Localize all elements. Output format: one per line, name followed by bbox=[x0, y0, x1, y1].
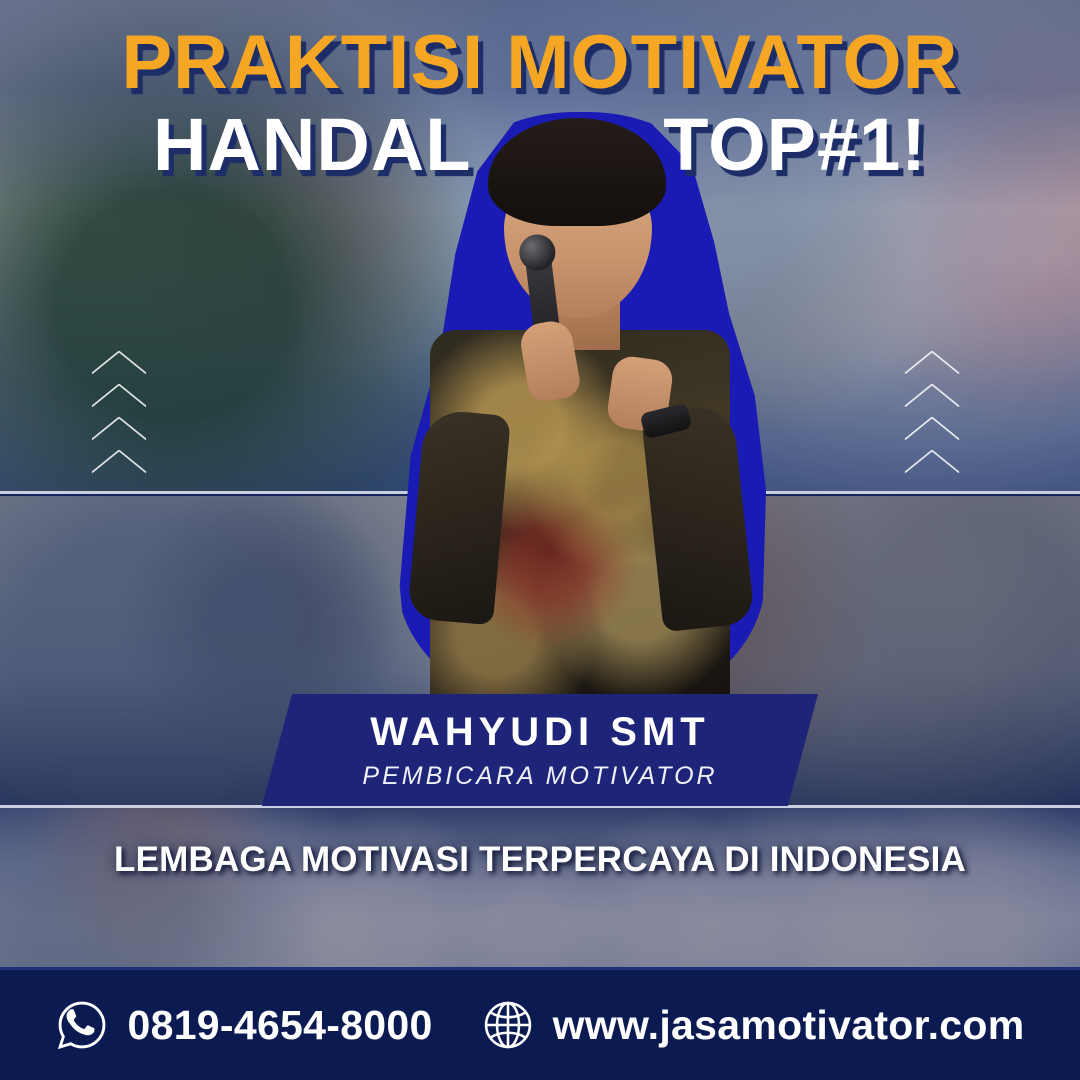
chevron-group-right bbox=[908, 352, 964, 481]
headline-block: PRAKTISI MOTIVATOR HANDAL TOP#1! bbox=[0, 0, 1080, 182]
website-url: www.jasamotivator.com bbox=[553, 1005, 1025, 1046]
chevron-up-icon bbox=[95, 418, 151, 448]
left-arm bbox=[407, 409, 511, 626]
speaker-role: PEMBICARA MOTIVATOR bbox=[362, 764, 717, 789]
speaker-name: WAHYUDI SMT bbox=[370, 712, 709, 752]
whatsapp-icon bbox=[55, 998, 109, 1052]
tagline: LEMBAGA MOTIVASI TERPERCAYA DI INDONESIA bbox=[0, 840, 1080, 880]
chevron-group-left bbox=[95, 352, 151, 481]
headline-line-2-left: HANDAL bbox=[153, 103, 470, 186]
name-ribbon: WAHYUDI SMT PEMBICARA MOTIVATOR bbox=[262, 694, 818, 806]
chevron-up-icon bbox=[908, 451, 964, 481]
chevron-up-icon bbox=[908, 385, 964, 415]
chevron-up-icon bbox=[95, 451, 151, 481]
group-photo bbox=[0, 808, 1080, 970]
phone-number: 0819-4654-8000 bbox=[127, 1005, 432, 1046]
headline-line-2: HANDAL TOP#1! bbox=[0, 108, 1080, 182]
website-contact[interactable]: www.jasamotivator.com bbox=[481, 998, 1025, 1052]
chevron-up-icon bbox=[95, 352, 151, 382]
headline-line-2-right: TOP#1! bbox=[663, 103, 927, 186]
contact-footer: 0819-4654-8000 www.jasamotivator.com bbox=[0, 970, 1080, 1080]
globe-icon bbox=[481, 998, 535, 1052]
chevron-up-icon bbox=[908, 418, 964, 448]
headline-line-1: PRAKTISI MOTIVATOR bbox=[0, 26, 1080, 100]
phone-contact[interactable]: 0819-4654-8000 bbox=[55, 998, 432, 1052]
speaker-cutout bbox=[396, 112, 766, 704]
photo-band-bottom bbox=[0, 808, 1080, 970]
promotional-poster: PRAKTISI MOTIVATOR HANDAL TOP#1! WAHYUDI… bbox=[0, 0, 1080, 1080]
chevron-up-icon bbox=[908, 352, 964, 382]
chevron-up-icon bbox=[95, 385, 151, 415]
